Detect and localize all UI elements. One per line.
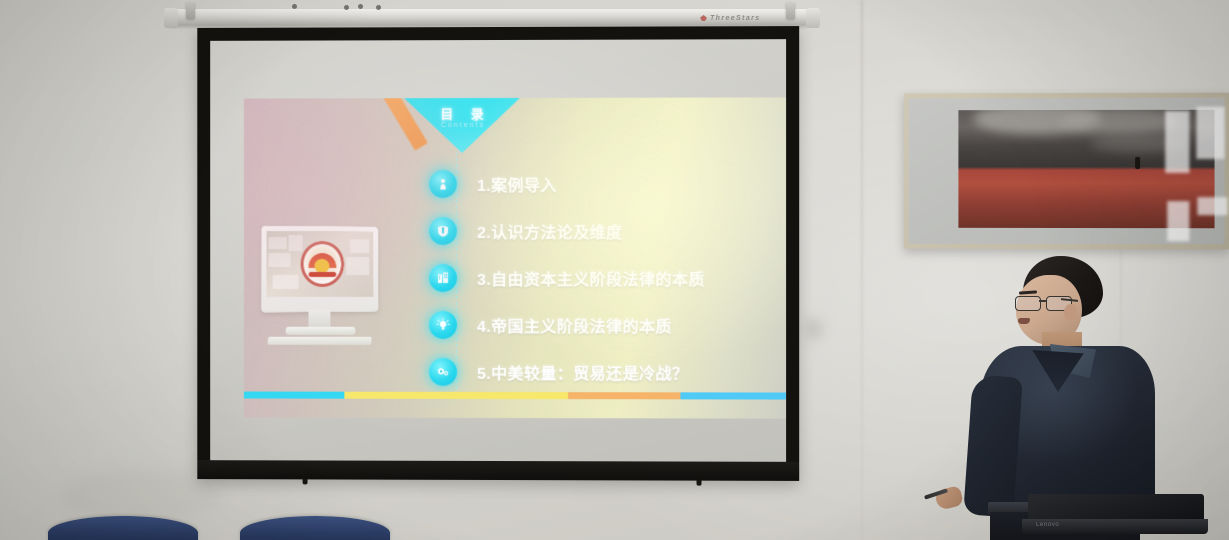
laptop-brand-label: Lenovo: [1036, 522, 1059, 528]
color-bar-segment: [568, 392, 680, 399]
monitor-tile: [268, 253, 290, 267]
ear: [1064, 304, 1077, 321]
monitor-stand-foot: [286, 327, 356, 335]
list-item: 5.中美较量：贸易还是冷战？: [429, 348, 786, 396]
laptop[interactable]: Lenovo: [1022, 494, 1208, 540]
glass-reflection: [1167, 201, 1189, 241]
roller-screw: [376, 5, 381, 10]
roller-screw: [344, 5, 349, 10]
color-bar-segment: [680, 392, 786, 399]
glass-reflection: [1196, 107, 1224, 159]
monitor-logo: [301, 241, 345, 287]
left-arm: [963, 374, 1023, 517]
projector-screen-surface: 目 录 Contents 1.案例导入 2.认识方法论及维度: [210, 39, 786, 462]
logo-bar: [309, 272, 337, 277]
list-item: 1.案例导入: [429, 160, 786, 207]
roller-screw: [358, 4, 363, 9]
list-item: 2.认识方法论及维度: [429, 207, 786, 254]
monitor-tile: [268, 237, 286, 249]
list-item-label: 4.帝国主义阶段法律的本质: [477, 312, 672, 336]
lightbulb-icon: [429, 310, 457, 338]
table-of-contents-list: 1.案例导入 2.认识方法论及维度 3.自由资本主义阶段法律的本质: [429, 160, 786, 396]
slide-subtitle: Contents: [403, 122, 521, 129]
shield-icon: [429, 217, 457, 245]
list-item-label: 5.中美较量：贸易还是冷战？: [477, 359, 688, 383]
list-item: 3.自由资本主义阶段法律的本质: [429, 254, 786, 301]
slide-color-bar: [244, 392, 786, 400]
wall-scuff: [806, 318, 822, 340]
screen-brand-plate: ThreeStars: [700, 12, 808, 24]
list-item-label: 2.认识方法论及维度: [477, 218, 623, 242]
glasses-bridge: [1039, 300, 1047, 302]
list-item-label: 1.案例导入: [477, 171, 557, 195]
person-icon: [429, 170, 457, 198]
list-item-label: 3.自由资本主义阶段法律的本质: [477, 265, 705, 289]
screen-weight-tab: [303, 478, 308, 484]
wall-seam: [861, 0, 863, 540]
color-bar-segment: [344, 392, 568, 399]
glass-reflection: [1165, 111, 1189, 173]
color-bar-segment: [244, 392, 344, 399]
wall-scuff: [60, 470, 220, 520]
roller-end-cap-left: [164, 8, 178, 28]
monitor-tile: [350, 239, 370, 253]
mouth: [1018, 318, 1030, 324]
laptop-lid: [1028, 494, 1204, 520]
monitor-tile: [289, 235, 303, 251]
monitor-tile: [346, 257, 370, 275]
building-icon: [429, 263, 457, 291]
roller-bracket-left: [186, 2, 195, 19]
projector-screen: 目 录 Contents 1.案例导入 2.认识方法论及维度: [197, 26, 799, 481]
glasses-lens-front: [1015, 296, 1041, 311]
desktop-monitor-illustration: [262, 226, 381, 348]
screen-brand-label: ThreeStars: [710, 15, 761, 22]
brand-diamond-icon: [700, 15, 707, 21]
keyboard-illustration: [267, 337, 372, 345]
glass-reflection: [1197, 197, 1227, 215]
roller-end-cap-right: [806, 8, 820, 28]
monitor-screen: [266, 231, 373, 297]
roller-screw: [292, 4, 297, 9]
logo-dot: [314, 259, 329, 273]
cloud: [1060, 110, 1178, 134]
screen-bottom-weight-bar: [197, 460, 799, 481]
projected-slide: 目 录 Contents 1.案例导入 2.认识方法论及维度: [244, 97, 786, 418]
classroom-scene: ThreeStars 目 录 Contents 1.案例导入: [0, 0, 1229, 540]
monitor-body: [261, 226, 378, 313]
monitor-tile: [272, 275, 298, 289]
figure-silhouette: [1135, 157, 1140, 169]
list-item: 4.帝国主义阶段法律的本质: [429, 301, 786, 348]
framed-landscape-photograph: [904, 93, 1229, 250]
screen-weight-tab: [697, 480, 702, 486]
slide-title: 目 录: [403, 104, 521, 123]
gears-icon: [429, 357, 457, 385]
